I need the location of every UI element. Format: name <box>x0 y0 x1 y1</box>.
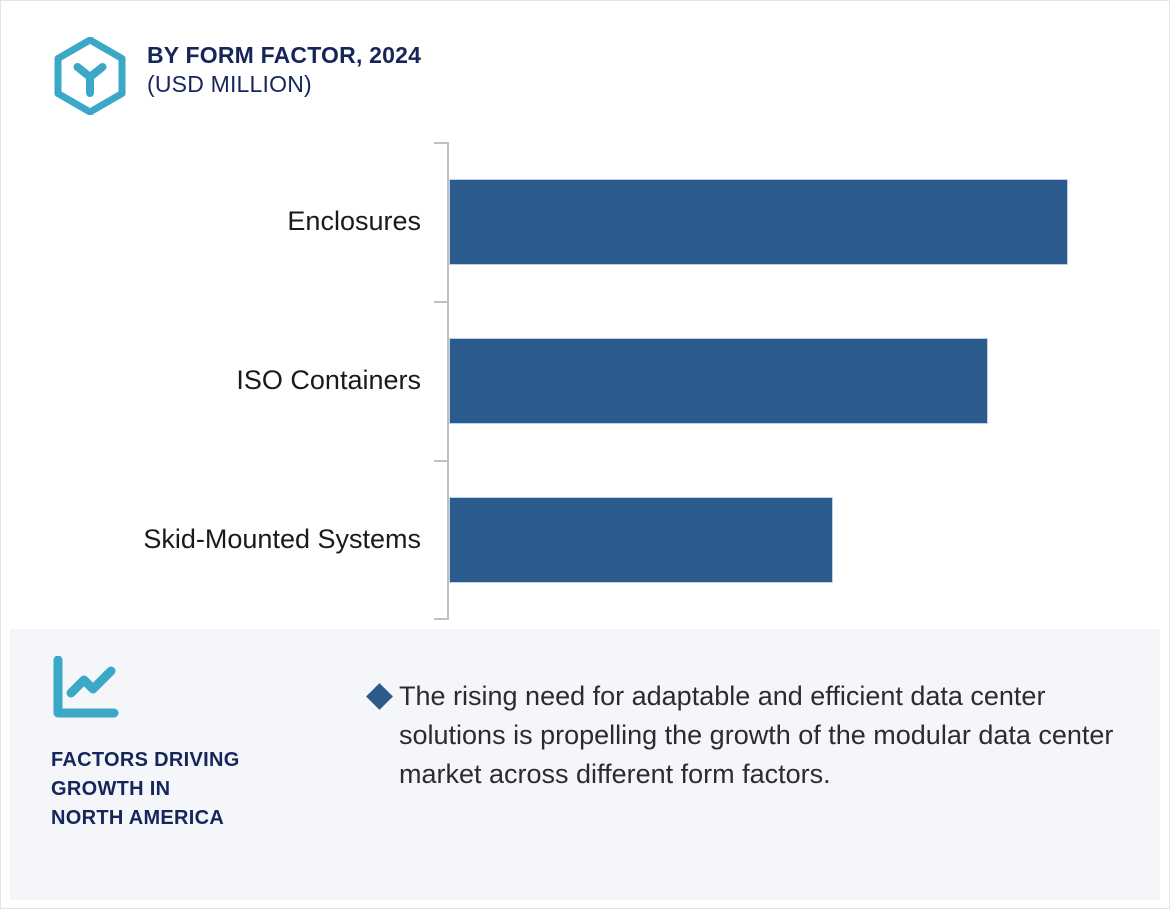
axis-tick-0 <box>434 142 447 144</box>
hexagon-y-icon <box>53 37 127 115</box>
axis-tick-3 <box>434 618 447 620</box>
header-text: BY FORM FACTOR, 2024 (USD MILLION) <box>147 35 421 100</box>
footer-title-line-0: FACTORS DRIVING <box>51 746 351 775</box>
line-chart-icon <box>51 656 119 720</box>
axis-tick-2 <box>434 460 447 462</box>
insight-text: The rising need for adaptable and effici… <box>399 677 1144 794</box>
bar-iso-containers[interactable] <box>449 338 988 424</box>
bar-row <box>449 497 833 583</box>
page-subtitle: (USD MILLION) <box>147 70 421 99</box>
footer-title-line-1: GROWTH IN <box>51 775 351 804</box>
bar-chart: Enclosures ISO Containers Skid-Mounted S… <box>1 131 1170 629</box>
diamond-bullet-icon <box>366 683 393 710</box>
category-label-2: Skid-Mounted Systems <box>1 524 421 555</box>
infographic-card: BY FORM FACTOR, 2024 (USD MILLION) Enclo… <box>0 0 1170 909</box>
bar-row <box>449 338 988 424</box>
bar-enclosures[interactable] <box>449 179 1068 265</box>
footer-title-line-2: NORTH AMERICA <box>51 804 351 833</box>
header: BY FORM FACTOR, 2024 (USD MILLION) <box>53 35 421 115</box>
bar-row <box>449 179 1068 265</box>
footer-panel: FACTORS DRIVING GROWTH IN NORTH AMERICA … <box>10 629 1160 900</box>
category-label-1: ISO Containers <box>1 365 421 396</box>
axis-tick-1 <box>434 301 447 303</box>
footer-left: FACTORS DRIVING GROWTH IN NORTH AMERICA <box>51 656 351 833</box>
footer-title: FACTORS DRIVING GROWTH IN NORTH AMERICA <box>51 746 351 833</box>
bar-skid-mounted-systems[interactable] <box>449 497 833 583</box>
page-title: BY FORM FACTOR, 2024 <box>147 41 421 70</box>
footer-right: The rising need for adaptable and effici… <box>370 677 1160 794</box>
category-label-0: Enclosures <box>1 206 421 237</box>
plot-area <box>447 142 1107 620</box>
